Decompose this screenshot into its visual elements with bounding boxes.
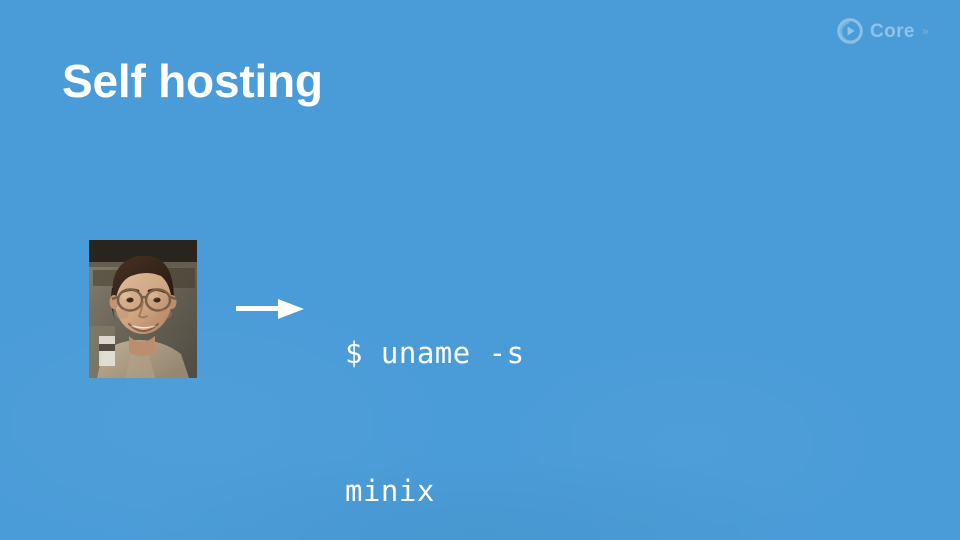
- brand-watermark: Core »: [836, 17, 929, 45]
- terminal-line: $ uname -s: [345, 330, 578, 376]
- terminal-transcript: $ uname -s minix $ gcc linux.c: [345, 238, 578, 540]
- brand-name: Core: [870, 22, 915, 41]
- slide-title: Self hosting: [62, 57, 323, 107]
- right-arrow-icon: [234, 296, 306, 322]
- core-play-circle-icon: [836, 17, 864, 45]
- portrait-photo: [89, 240, 197, 378]
- terminal-line: minix: [345, 468, 578, 514]
- brand-tail-mark: »: [922, 25, 929, 37]
- presentation-slide: Core » Self hosting: [0, 0, 960, 540]
